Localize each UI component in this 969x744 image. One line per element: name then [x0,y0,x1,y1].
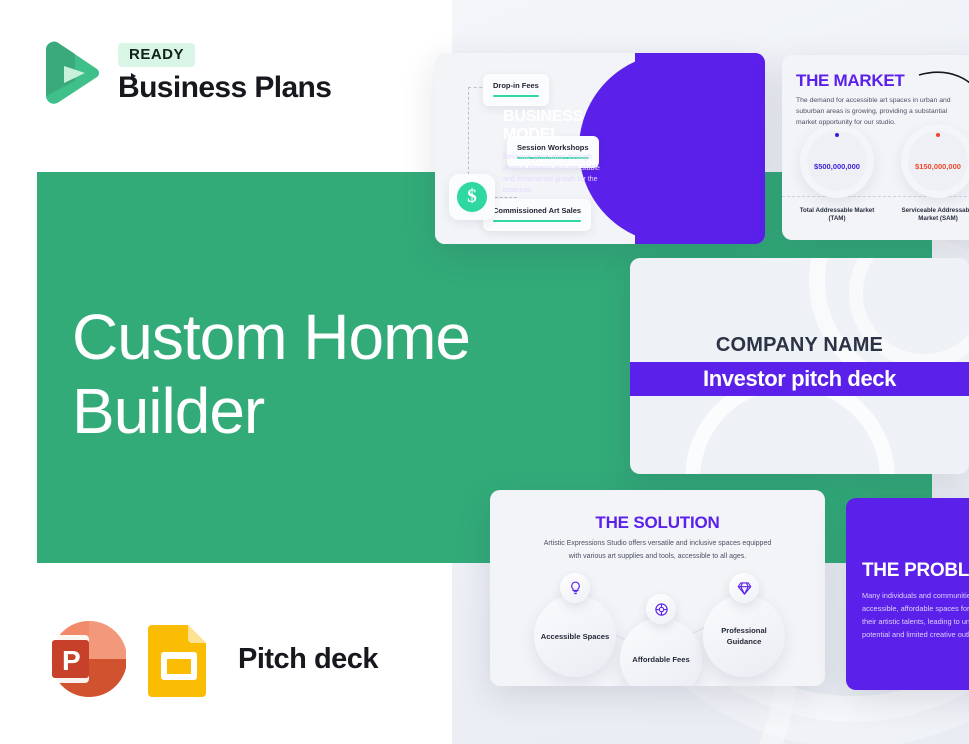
ready-badge: READY [118,43,195,67]
formats-label: Pitch deck [238,643,378,676]
slide-company-name[interactable]: COMPANY NAME Investor pitch deck [630,258,969,474]
brand-text: READY Business Plans [118,43,331,105]
lightbulb-icon [560,573,590,603]
slide-business-model[interactable]: Drop-in Fees Session Workshops Commissio… [435,53,765,244]
market-metric-value: $150,000,000 [901,162,969,171]
slide-the-problem[interactable]: THE PROBLEM Many individuals and communi… [846,498,969,690]
biz-item-label: Session Workshops [517,143,589,152]
solution-pillar-2[interactable]: Professional Guidance [703,595,785,677]
pillar-label: Accessible Spaces [541,631,609,642]
connector-mid [495,197,517,198]
pillar-label: Professional Guidance [703,625,785,647]
market-metric-value: $500,000,000 [800,162,874,171]
investor-band: Investor pitch deck [630,362,969,396]
solution-heading: THE SOLUTION [490,513,825,533]
investor-subtitle: Investor pitch deck [703,366,896,392]
dial-marker [936,133,940,137]
biz-item-2[interactable]: Commissioned Art Sales [483,199,591,231]
google-slides-icon [148,621,210,697]
dollar-coin-icon: $ [449,174,495,220]
market-dial-1: $150,000,000 [901,124,969,198]
market-dial-0: $500,000,000 [800,124,874,198]
biz-item-label: Drop-in Fees [493,81,539,90]
target-icon [646,594,676,624]
solution-pillar-0[interactable]: Accessible Spaces [534,595,616,677]
biz-item-label: Commissioned Art Sales [493,206,581,215]
biz-body: Revenue generation through diverse strea… [503,153,613,196]
market-heading: THE MARKET [796,71,904,91]
biz-purple-fill [635,53,765,244]
biz-item-underline [493,220,581,222]
company-name: COMPANY NAME [630,334,969,357]
dial-marker [835,133,839,137]
pillar-label: Affordable Fees [632,654,689,665]
market-metric-caption: Serviceable Addressable Market (SAM) [895,207,969,224]
svg-text:P: P [62,645,81,676]
brand-name: Business Plans [118,71,331,105]
slide-the-market[interactable]: THE MARKET The demand for accessible art… [782,55,969,240]
page-title: Custom Home Builder [72,300,502,448]
problem-body: Many individuals and communities lack ac… [862,590,969,642]
brand-tick-icon [131,73,136,79]
format-row: P Pitch deck [42,620,378,698]
brand-lockup: READY Business Plans [40,36,331,112]
solution-body: Artistic Expressions Studio offers versa… [540,538,775,563]
biz-heading: BUSINESS MODEL [503,108,615,144]
biz-item-0[interactable]: Drop-in Fees [483,74,549,106]
play-triangle-logo-icon [40,36,102,112]
diamond-icon [729,573,759,603]
problem-heading: THE PROBLEM [862,560,969,582]
poster-canvas: READY Business Plans Custom Home Builder… [0,0,969,744]
slide-the-solution[interactable]: THE SOLUTION Artistic Expressions Studio… [490,490,825,686]
biz-item-underline [493,95,539,97]
market-metric-caption: Total Addressable Market (TAM) [794,207,880,224]
powerpoint-icon: P [42,620,126,698]
